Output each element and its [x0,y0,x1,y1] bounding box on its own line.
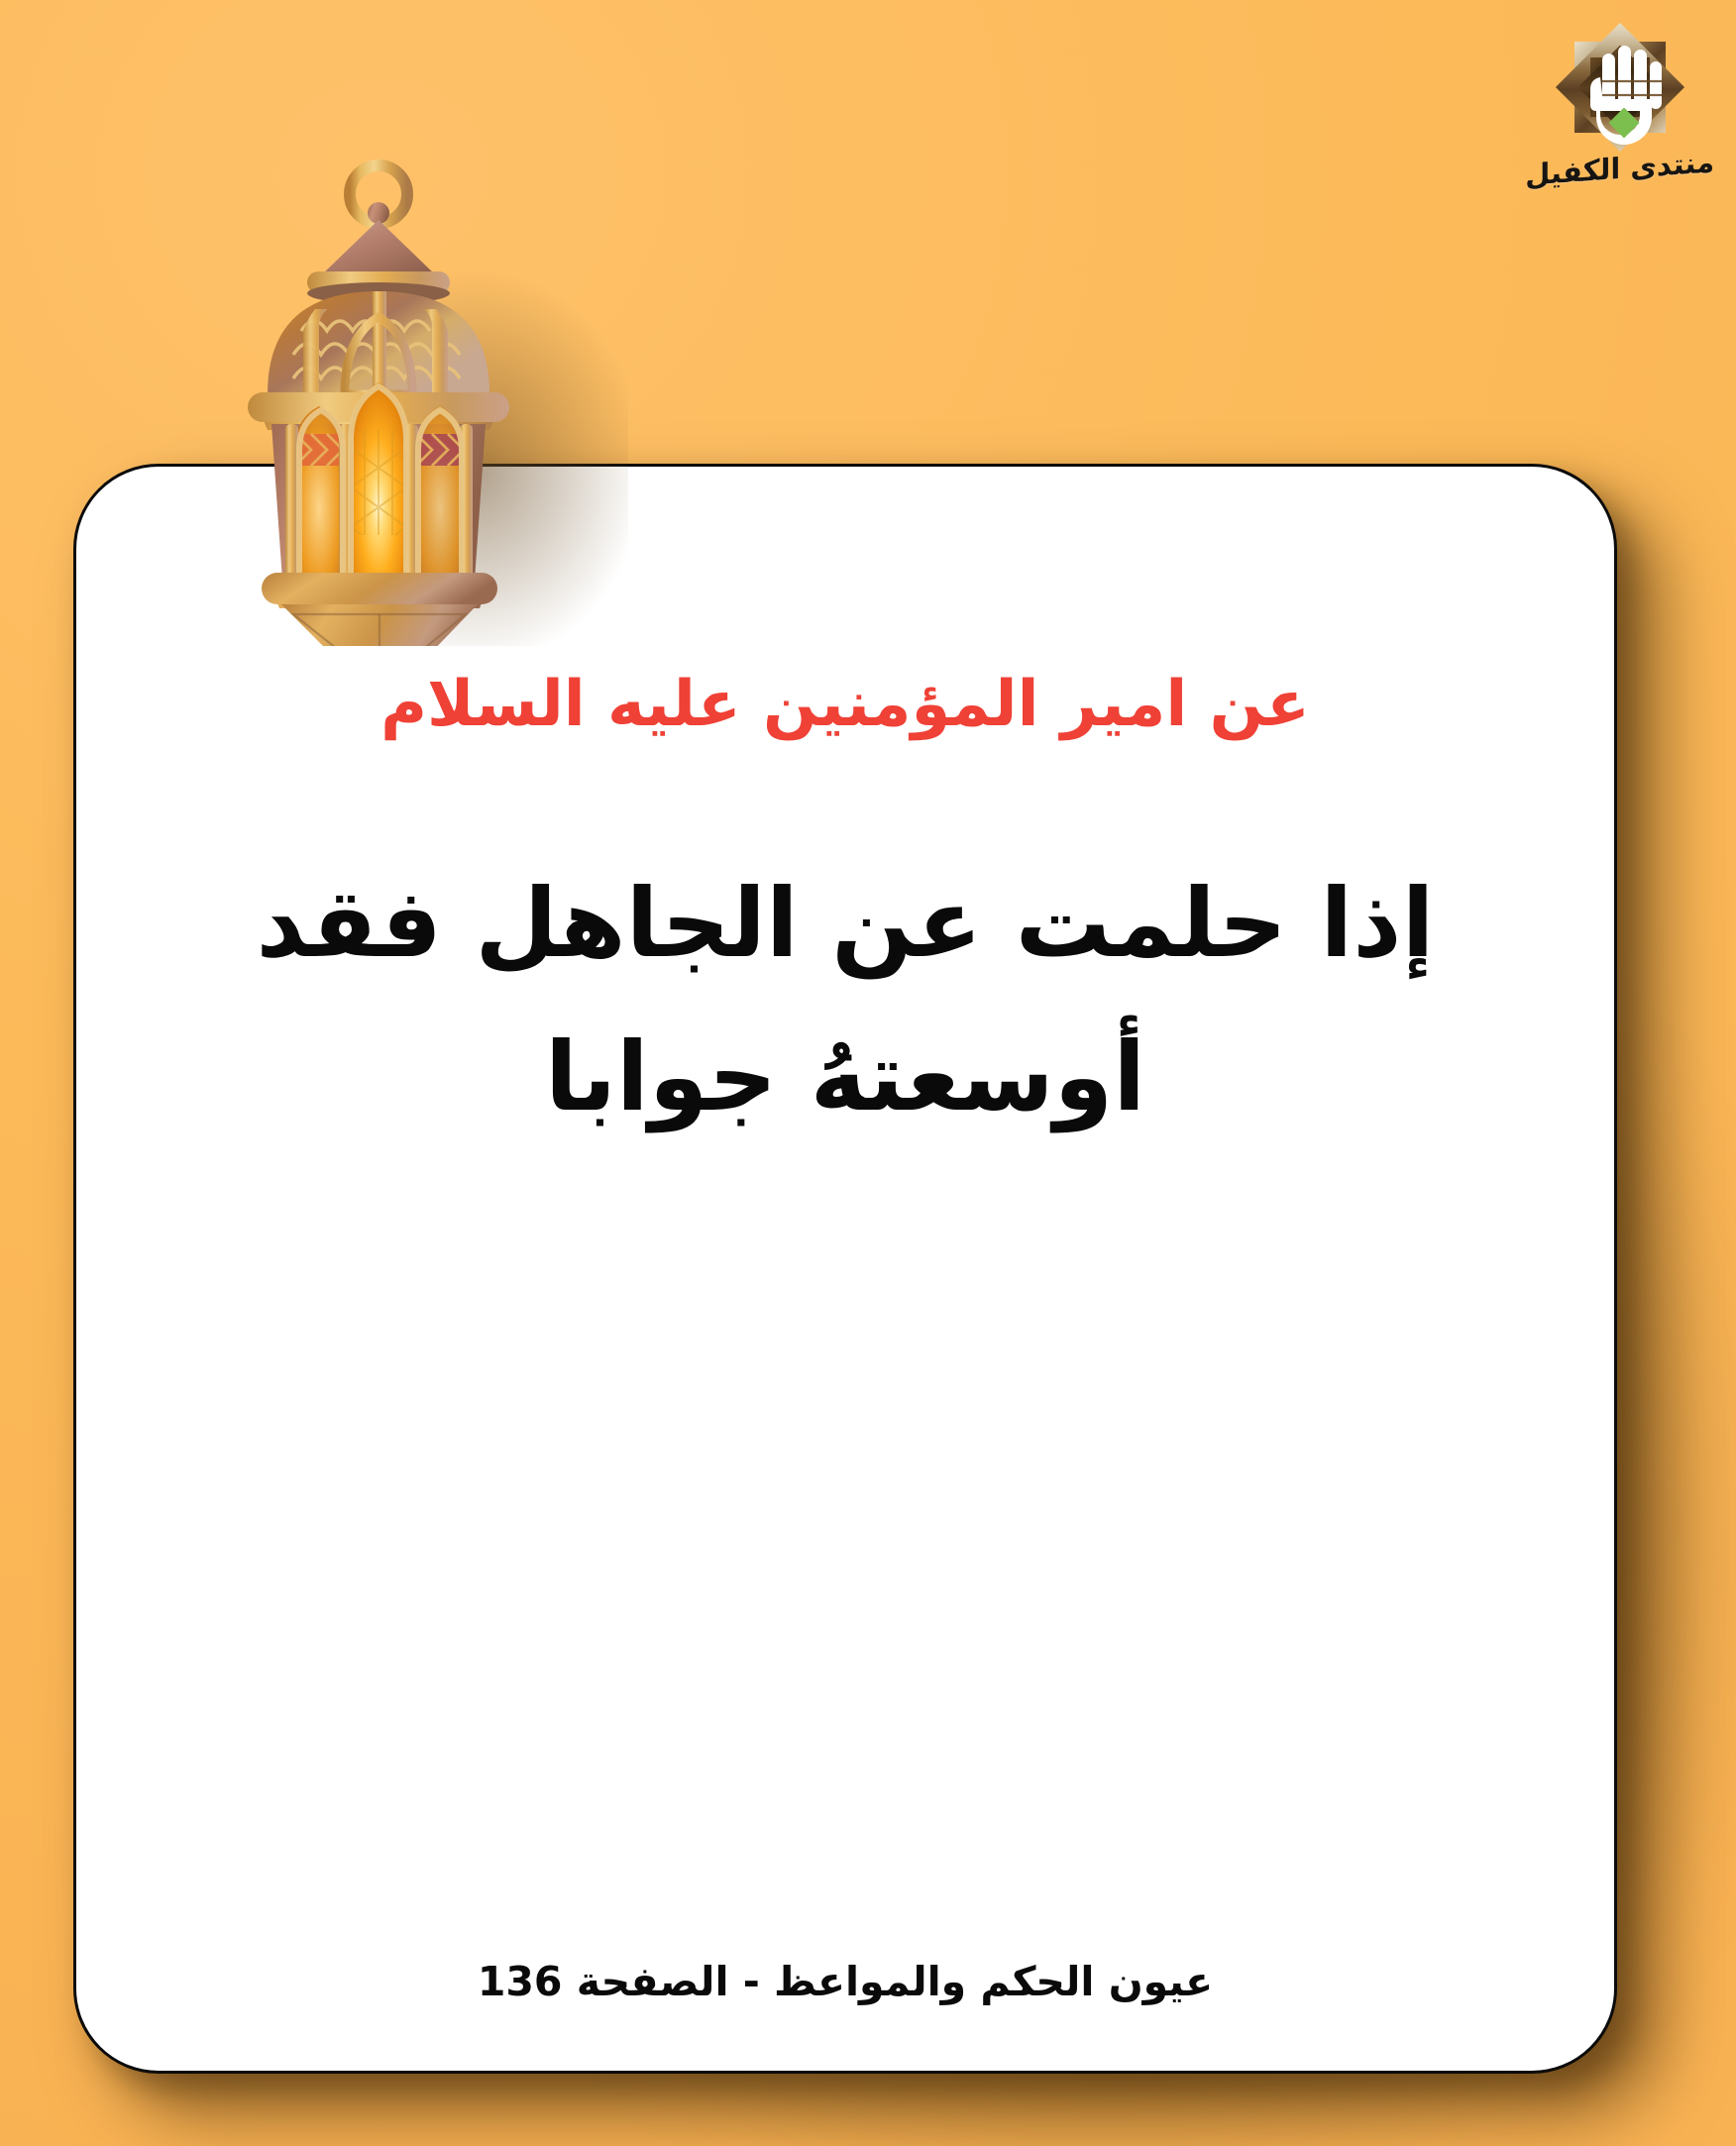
quote-body: إذا حلمت عن الجاهل فقد أوسعتهُ جوابا [257,847,1435,1155]
al-kafeel-emblem-icon [1557,22,1683,153]
site-logo[interactable]: منتدى الكفيل [1526,22,1714,230]
quote-source: عيون الحكم والمواعظ - الصفحة 136 [76,1958,1614,2005]
quote-card: عن امير المؤمنين عليه السلام إذا حلمت عن… [73,464,1617,2074]
card-heading: عن امير المؤمنين عليه السلام [380,669,1310,742]
quote-line-1: إذا حلمت عن الجاهل فقد [257,847,1435,1002]
ramadan-lantern-icon [176,151,628,646]
hand-palm-icon [1557,22,1683,153]
quote-card-page: منتدى الكفيل عن امير المؤمنين عليه السلا… [0,0,1736,2146]
quote-line-2: أوسعتهُ جوابا [257,1001,1435,1155]
logo-caption: منتدى الكفيل [1526,148,1715,189]
